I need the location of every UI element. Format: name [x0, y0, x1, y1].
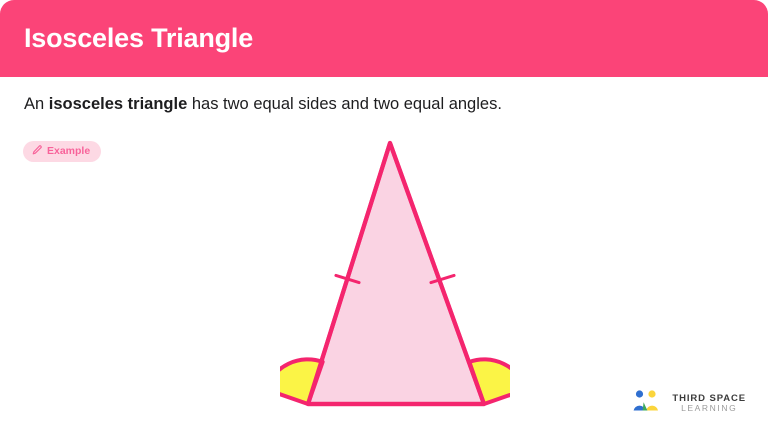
example-badge-label: Example [47, 146, 90, 157]
triangle-shape [308, 143, 484, 404]
pencil-icon [31, 143, 42, 161]
brand-logo: THIRD SPACE LEARNING [631, 389, 746, 418]
definition-prefix: An [24, 95, 49, 113]
brand-name-line2: LEARNING [672, 404, 746, 413]
isosceles-triangle-diagram [280, 125, 510, 425]
example-badge[interactable]: Example [23, 141, 101, 162]
lesson-card: Isosceles Triangle An isosceles triangle… [0, 0, 768, 446]
definition-text: An isosceles triangle has two equal side… [24, 94, 502, 115]
definition-term: isosceles triangle [49, 95, 188, 113]
page-header: Isosceles Triangle [0, 0, 768, 77]
page-title: Isosceles Triangle [24, 25, 253, 52]
third-space-learning-mark-icon [631, 389, 663, 418]
brand-logo-text: THIRD SPACE LEARNING [672, 394, 746, 413]
definition-suffix: has two equal sides and two equal angles… [187, 95, 502, 113]
